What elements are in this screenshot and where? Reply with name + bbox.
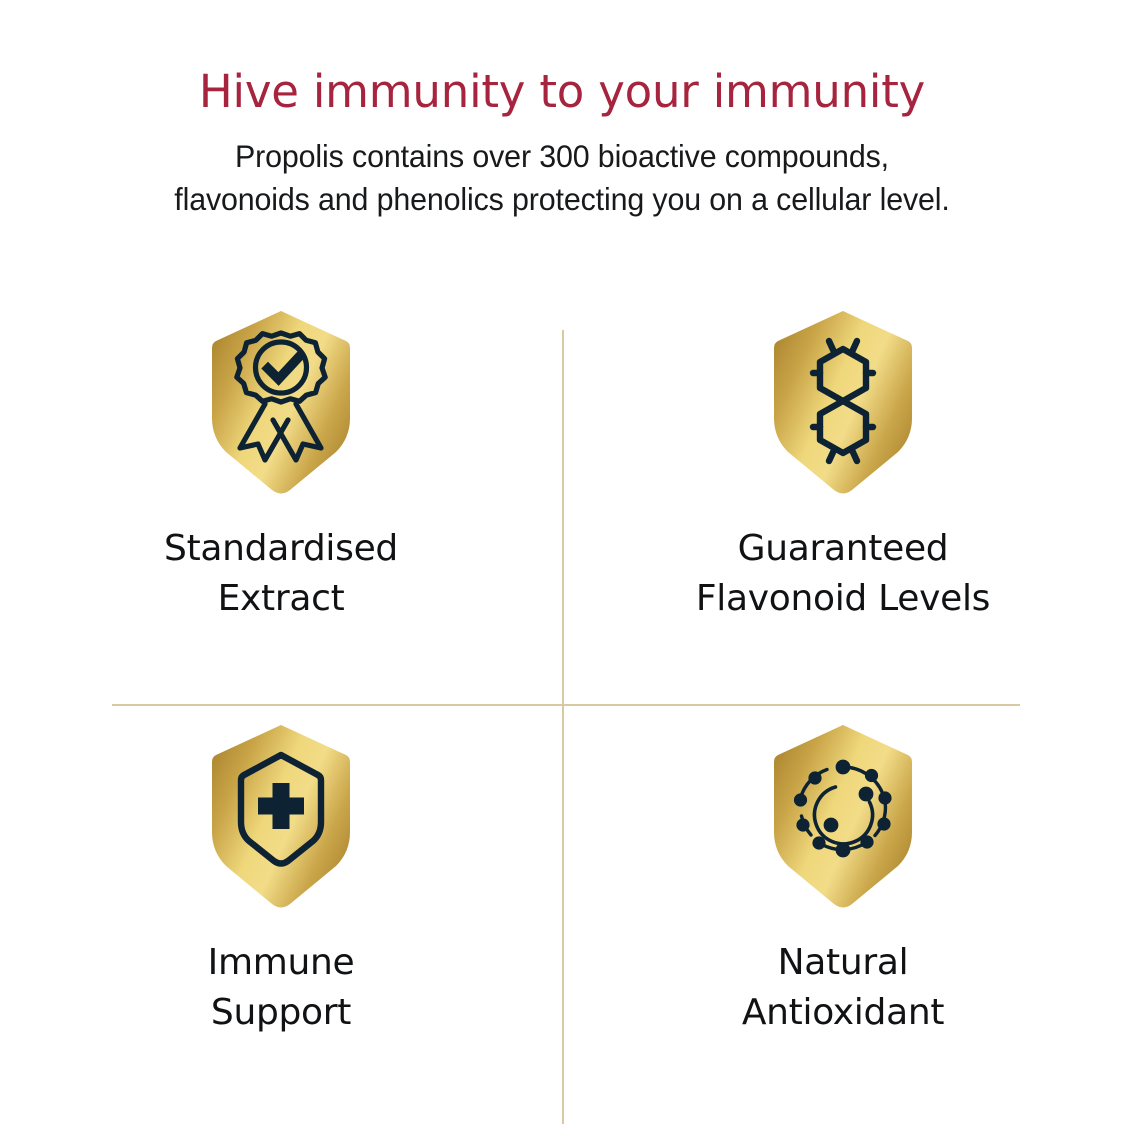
feature-item-standardised-extract: Standardised Extract <box>0 296 562 710</box>
feature-label-line-1: Natural <box>742 938 944 988</box>
award-rosette-check-icon <box>210 310 352 494</box>
feature-label: Natural Antioxidant <box>742 938 944 1037</box>
page-title: Hive immunity to your immunity <box>0 68 1124 117</box>
feature-label-line-2: Support <box>208 988 355 1038</box>
header: Hive immunity to your immunity Propolis … <box>0 0 1124 222</box>
antioxidant-radical-ring-icon <box>772 724 914 908</box>
feature-label-line-2: Flavonoid Levels <box>696 574 990 624</box>
feature-label: Immune Support <box>208 938 355 1037</box>
feature-grid: Standardised Extract <box>0 296 1124 1124</box>
feature-item-immune-support: Immune Support <box>0 710 562 1124</box>
feature-label-line-2: Extract <box>164 574 398 624</box>
feature-label-line-1: Standardised <box>164 524 398 574</box>
shield-medical-cross-icon <box>210 724 352 908</box>
subtitle: Propolis contains over 300 bioactive com… <box>20 135 1105 222</box>
feature-item-guaranteed-flavonoid-levels: Guaranteed Flavonoid Levels <box>562 296 1124 710</box>
feature-label-line-1: Guaranteed <box>696 524 990 574</box>
feature-item-natural-antioxidant: Natural Antioxidant <box>562 710 1124 1124</box>
subtitle-line-2: flavonoids and phenolics protecting you … <box>20 178 1105 221</box>
feature-label: Standardised Extract <box>164 524 398 623</box>
flavonoid-molecule-icon <box>772 310 914 494</box>
feature-label: Guaranteed Flavonoid Levels <box>696 524 990 623</box>
feature-label-line-1: Immune <box>208 938 355 988</box>
subtitle-line-1: Propolis contains over 300 bioactive com… <box>20 135 1105 178</box>
feature-label-line-2: Antioxidant <box>742 988 944 1038</box>
infographic-page: Hive immunity to your immunity Propolis … <box>0 0 1124 1124</box>
